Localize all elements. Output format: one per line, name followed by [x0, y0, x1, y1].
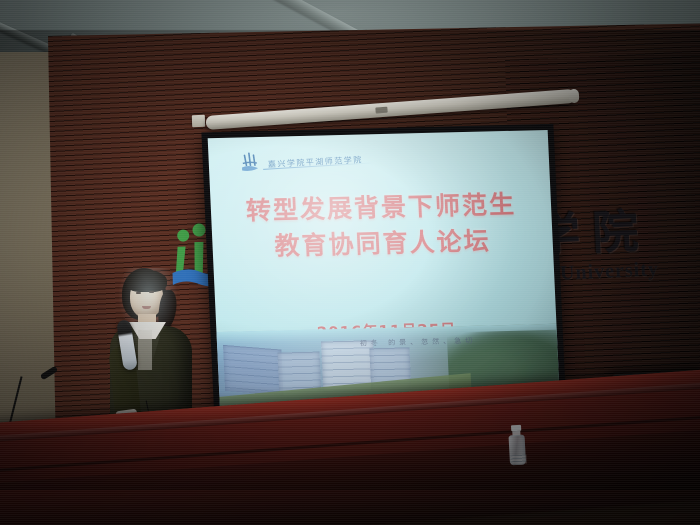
presenter-eye-right — [149, 291, 154, 293]
housing-nub — [375, 107, 387, 114]
bottle-label — [511, 455, 527, 465]
auditorium-photo: 学院 University 嘉兴学院平湖师范学院 转型发展背景下师范生 — [0, 0, 700, 525]
ceiling-vent-4 — [0, 0, 51, 52]
slide-logo-mark-icon — [240, 151, 263, 176]
water-bottle — [507, 425, 527, 466]
projection-screen-frame: 嘉兴学院平湖师范学院 转型发展背景下师范生 教育协同育人论坛 2016年11月2… — [201, 124, 566, 424]
bottle-body — [508, 435, 526, 466]
housing-end-cap — [569, 89, 580, 104]
presenter-hair-front — [126, 270, 167, 292]
wall-light-switch[interactable] — [192, 115, 205, 127]
presenter-eye-left — [136, 292, 141, 294]
slide-title-line1: 转型发展背景下师范生 — [245, 190, 516, 226]
campus-building-2 — [277, 352, 321, 393]
slide-title-line2: 教育协同育人论坛 — [212, 222, 554, 266]
slide-logo: 嘉兴学院平湖师范学院 — [240, 149, 363, 176]
projection-screen[interactable]: 嘉兴学院平湖师范学院 转型发展背景下师范生 教育协同育人论坛 2016年11月2… — [208, 130, 561, 418]
slide-title: 转型发展背景下师范生 教育协同育人论坛 — [210, 186, 553, 266]
campus-building-1 — [223, 345, 283, 396]
